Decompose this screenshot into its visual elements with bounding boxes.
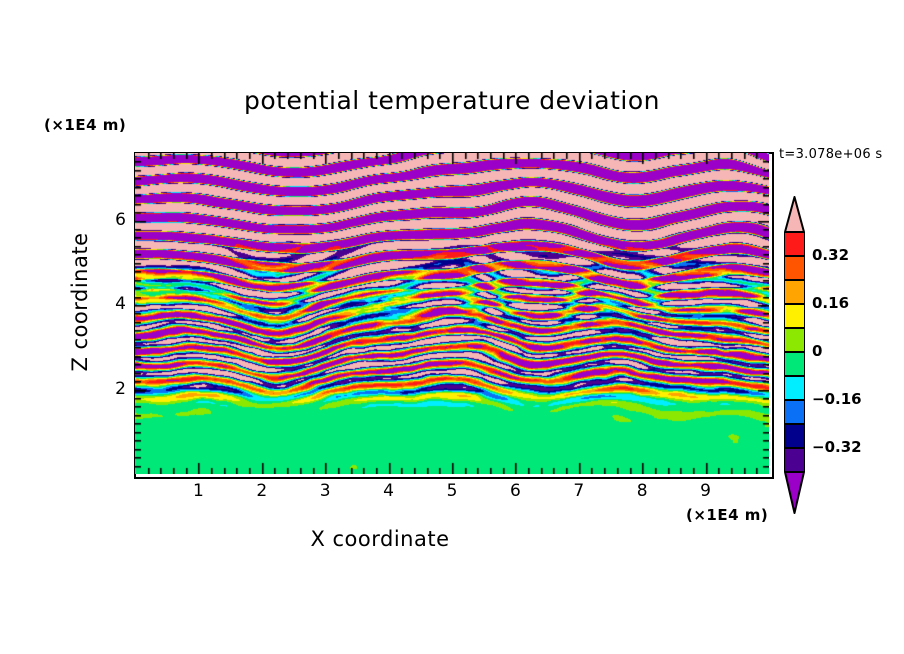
chart-title: potential temperature deviation [0, 86, 904, 115]
colorbar-band-9 [784, 448, 805, 472]
y-tick-6: 6 [96, 210, 126, 230]
y-tick-2: 2 [96, 379, 126, 399]
x-tick-1: 1 [183, 481, 213, 501]
colorbar-label-−0.32: −0.32 [812, 438, 862, 456]
z-axis-unit-label: (×1E4 m) [44, 116, 126, 134]
colorbar-label-0.32: 0.32 [812, 246, 849, 264]
x-tick-6: 6 [500, 481, 530, 501]
colorbar-band-2 [784, 280, 805, 304]
colorbar-label-0: 0 [812, 342, 822, 360]
x-tick-2: 2 [247, 481, 277, 501]
colorbar-band-3 [784, 304, 805, 328]
colorbar-label-−0.16: −0.16 [812, 390, 862, 408]
colorbar-band-1 [784, 256, 805, 280]
colorbar-band-7 [784, 400, 805, 424]
timestamp-label: t=3.078e+06 s [779, 147, 882, 162]
x-tick-7: 7 [564, 481, 594, 501]
colorbar-label-0.16: 0.16 [812, 294, 849, 312]
x-tick-5: 5 [437, 481, 467, 501]
contour-field [135, 153, 769, 474]
colorbar-band-8 [784, 424, 805, 448]
x-tick-8: 8 [627, 481, 657, 501]
y-tick-4: 4 [96, 294, 126, 314]
colorbar-high-cap [784, 196, 805, 233]
colorbar-band-0 [784, 232, 805, 256]
colorbar-band-5 [784, 352, 805, 376]
colorbar-band-6 [784, 376, 805, 400]
x-tick-4: 4 [374, 481, 404, 501]
x-axis-title: X coordinate [0, 527, 760, 551]
y-axis-title: Z coordinate [68, 192, 92, 412]
x-tick-3: 3 [310, 481, 340, 501]
colorbar [784, 232, 805, 472]
figure-canvas: potential temperature deviation (×1E4 m)… [0, 0, 904, 654]
colorbar-low-cap [784, 471, 805, 514]
colorbar-band-4 [784, 328, 805, 352]
x-tick-9: 9 [691, 481, 721, 501]
x-axis-unit-label: (×1E4 m) [686, 506, 768, 524]
